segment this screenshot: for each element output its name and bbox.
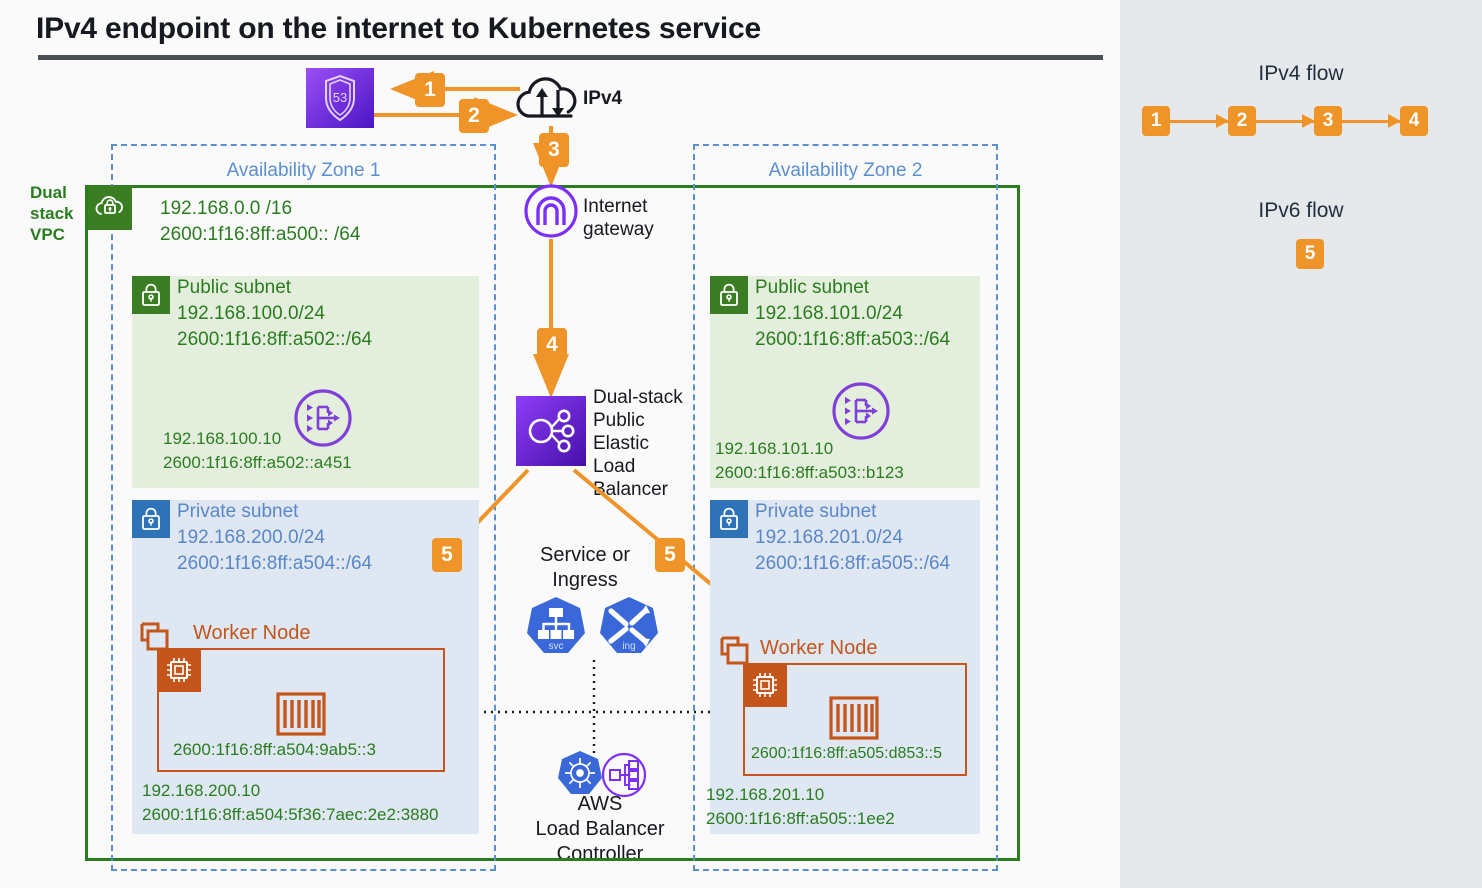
legend-ipv4-step-1: 1: [1142, 106, 1170, 136]
zone1-public-subnet-name: Public subnet: [177, 275, 372, 301]
zone2-public-subnet-cidr-v6: 2600:1f16:8ff:a503::/64: [755, 327, 950, 353]
zone1-public-subnet-head: Public subnet 192.168.100.0/24 2600:1f16…: [177, 275, 372, 353]
zone1-private-subnet-cidr-v4: 192.168.200.0/24: [177, 525, 372, 551]
zone1-pod-ip-v6: 2600:1f16:8ff:a504:9ab5::3: [173, 740, 376, 760]
vpc-label-line2: stack: [30, 203, 88, 224]
page-title: IPv4 endpoint on the internet to Kuberne…: [36, 12, 761, 46]
zone1-nat-ip-v4: 192.168.100.10: [163, 427, 281, 451]
legend-ipv4-step-3: 3: [1314, 106, 1342, 136]
route-53-icon: 53: [306, 68, 374, 133]
zone2-public-subnet-name: Public subnet: [755, 275, 950, 301]
zone2-worker-node-label: Worker Node: [760, 637, 877, 660]
zone1-pod-icon: [276, 692, 326, 741]
zone2-flow-badge-5: 5: [655, 538, 685, 572]
legend-arrow-icon: [1170, 120, 1228, 123]
internet-cloud-icon: [514, 70, 586, 133]
kubernetes-ingress-icon: ing: [596, 595, 662, 662]
zone2-nat-gateway-icon: [831, 381, 891, 446]
zone1-worker-node-label: Worker Node: [193, 622, 310, 645]
zone1-nat-gateway-icon: [293, 388, 353, 453]
legend-ipv6-step-5: 5: [1296, 239, 1324, 269]
aws-load-balancer-controller-icon: [601, 752, 647, 803]
legend-ipv4-row: 1 2 3 4: [1142, 106, 1428, 136]
zone2-private-subnet-name: Private subnet: [755, 499, 950, 525]
zone2-pod-icon: [829, 696, 879, 745]
legend-arrow-icon: [1256, 120, 1314, 123]
legend-ipv6-row: 5: [1296, 239, 1324, 269]
flow-badge-3: 3: [539, 133, 569, 167]
legend-ipv4-title: IPv4 flow: [1120, 62, 1482, 86]
zone1-nat-ip-v6: 2600:1f16:8ff:a502::a451: [163, 451, 352, 475]
flow-badge-4: 4: [537, 328, 567, 362]
zone2-public-subnet-head: Public subnet 192.168.101.0/24 2600:1f16…: [755, 275, 950, 353]
title-underline: [38, 55, 1103, 60]
zone1-private-subnet-head: Private subnet 192.168.200.0/24 2600:1f1…: [177, 499, 372, 577]
zone2-worker-node-box: 2600:1f16:8ff:a505:d853::5: [743, 663, 967, 776]
zone2-private-subnet-head: Private subnet 192.168.201.0/24 2600:1f1…: [755, 499, 950, 577]
zone2-nat-ip-v4: 192.168.101.10: [715, 437, 833, 461]
vpc-label-line1: Dual: [30, 182, 88, 203]
zone2-public-subnet-cidr-v4: 192.168.101.0/24: [755, 301, 950, 327]
legend-ipv4-step-4: 4: [1400, 106, 1428, 136]
zone1-flow-badge-5: 5: [432, 538, 462, 572]
svg-text:53: 53: [333, 90, 347, 105]
zone2-node-ip-v4: 192.168.201.10: [706, 783, 824, 807]
availability-zone-2-title: Availability Zone 2: [693, 160, 998, 182]
zone1-public-subnet-cidr-v6: 2600:1f16:8ff:a502::/64: [177, 327, 372, 353]
svc-caption: svc: [549, 641, 564, 652]
internet-gateway-icon: [523, 183, 579, 244]
legend-ipv6-title: IPv6 flow: [1120, 199, 1482, 223]
vpc-cidr-ipv6: 2600:1f16:8ff:a500:: /64: [160, 222, 360, 248]
zone1-worker-node-icon: [138, 620, 182, 667]
zone1-public-subnet-cidr-v4: 192.168.100.0/24: [177, 301, 372, 327]
private-subnet-lock-icon: [132, 500, 170, 538]
elastic-load-balancer-icon: [516, 396, 586, 471]
zone2-nat-ip-v6: 2600:1f16:8ff:a503::b123: [715, 461, 904, 485]
ing-caption: ing: [622, 641, 635, 652]
internet-cloud-label: IPv4: [583, 88, 622, 110]
flow-badge-2: 2: [459, 99, 489, 133]
legend-panel: IPv4 flow 1 2 3 4 IPv6 flow 5: [1120, 0, 1482, 888]
zone1-worker-node-box: 2600:1f16:8ff:a504:9ab5::3: [157, 648, 445, 772]
zone2-pod-ip-v6: 2600:1f16:8ff:a505:d853::5: [751, 745, 942, 763]
private-subnet-lock-icon: [710, 500, 748, 538]
header: IPv4 endpoint on the internet to Kuberne…: [0, 0, 1120, 62]
zone1-node-ip-v4: 192.168.200.10: [142, 779, 260, 803]
vpc-label: Dual stack VPC: [30, 182, 88, 245]
flow-badge-1: 1: [415, 73, 445, 107]
availability-zone-1-title: Availability Zone 1: [111, 160, 496, 182]
legend-arrow-icon: [1342, 120, 1400, 123]
diagram-canvas: IPv4 endpoint on the internet to Kuberne…: [0, 0, 1482, 888]
zone2-node-ip-v6: 2600:1f16:8ff:a505::1ee2: [706, 807, 895, 831]
zone2-worker-node-icon: [718, 634, 762, 681]
vpc-cidr-block: 192.168.0.0 /16 2600:1f16:8ff:a500:: /64: [160, 196, 360, 248]
zone1-node-ip-v6: 2600:1f16:8ff:a504:5f36:7aec:2e2:3880: [142, 803, 439, 827]
vpc-label-line3: VPC: [30, 224, 88, 245]
zone2-private-subnet-cidr-v4: 192.168.201.0/24: [755, 525, 950, 551]
kubernetes-icon: [557, 750, 603, 801]
zone1-private-subnet-cidr-v6: 2600:1f16:8ff:a504::/64: [177, 551, 372, 577]
kubernetes-service-icon: svc: [523, 595, 589, 662]
public-subnet-lock-icon: [132, 276, 170, 314]
vpc-lock-cloud-icon: [88, 186, 132, 230]
zone1-private-subnet-name: Private subnet: [177, 499, 372, 525]
vpc-cidr-ipv4: 192.168.0.0 /16: [160, 196, 360, 222]
public-subnet-lock-icon: [710, 276, 748, 314]
legend-ipv4-step-2: 2: [1228, 106, 1256, 136]
zone2-private-subnet-cidr-v6: 2600:1f16:8ff:a505::/64: [755, 551, 950, 577]
